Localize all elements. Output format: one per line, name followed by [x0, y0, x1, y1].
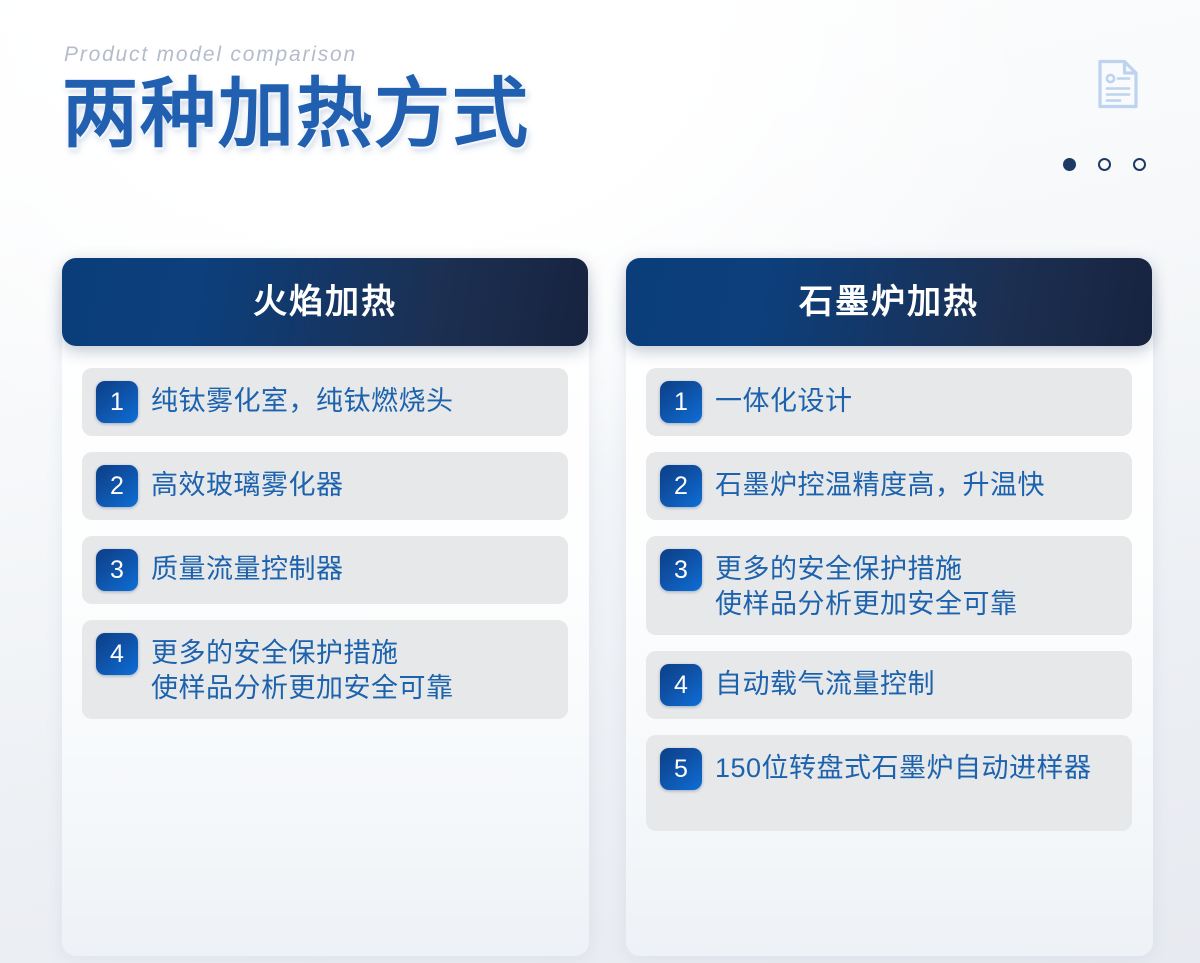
item-number-badge: 3 [96, 549, 138, 591]
list-item[interactable]: 1 纯钛雾化室，纯钛燃烧头 [82, 368, 568, 436]
pagination-dots[interactable] [1063, 158, 1146, 171]
item-number-badge: 5 [660, 748, 702, 790]
list-item[interactable]: 4 更多的安全保护措施 使样品分析更加安全可靠 [82, 620, 568, 719]
item-label: 更多的安全保护措施 使样品分析更加安全可靠 [715, 549, 1018, 622]
list-item[interactable]: 2 高效玻璃雾化器 [82, 452, 568, 520]
card-header-flame: 火焰加热 [62, 258, 588, 346]
page-title: 两种加热方式 [62, 75, 1152, 155]
item-label: 一体化设计 [715, 381, 853, 419]
card-heading-label: 石墨炉加热 [799, 285, 979, 319]
item-label: 高效玻璃雾化器 [151, 465, 344, 503]
item-number-badge: 1 [660, 381, 702, 423]
item-label: 150位转盘式石墨炉自动进样器 [715, 748, 1092, 786]
item-number-badge: 3 [660, 549, 702, 591]
item-label: 自动载气流量控制 [715, 664, 935, 702]
card-heading-label: 火焰加热 [253, 285, 397, 319]
item-label: 石墨炉控温精度高，升温快 [715, 465, 1045, 503]
list-item[interactable]: 2 石墨炉控温精度高，升温快 [646, 452, 1132, 520]
item-label: 质量流量控制器 [151, 549, 344, 587]
document-icon [1096, 58, 1140, 110]
item-number-badge: 1 [96, 381, 138, 423]
comparison-card-flame: 火焰加热 1 纯钛雾化室，纯钛燃烧头 2 高效玻璃雾化器 3 质量流量控制器 [62, 258, 588, 831]
item-number-badge: 4 [96, 633, 138, 675]
item-number-badge: 2 [96, 465, 138, 507]
item-number-badge: 2 [660, 465, 702, 507]
card-header-graphite: 石墨炉加热 [626, 258, 1152, 346]
list-item[interactable]: 5 150位转盘式石墨炉自动进样器 [646, 735, 1132, 831]
item-label: 纯钛雾化室，纯钛燃烧头 [151, 381, 454, 419]
pagination-dot-2[interactable] [1098, 158, 1111, 171]
list-item[interactable]: 4 自动载气流量控制 [646, 651, 1132, 719]
comparison-card-graphite: 石墨炉加热 1 一体化设计 2 石墨炉控温精度高，升温快 3 更多的安全保护措施… [626, 258, 1152, 831]
pagination-dot-3[interactable] [1133, 158, 1146, 171]
comparison-columns: 火焰加热 1 纯钛雾化室，纯钛燃烧头 2 高效玻璃雾化器 3 质量流量控制器 [62, 258, 1152, 831]
corner-cluster [1022, 58, 1152, 188]
pagination-dot-1[interactable] [1063, 158, 1076, 171]
item-number-badge: 4 [660, 664, 702, 706]
item-label: 更多的安全保护措施 使样品分析更加安全可靠 [151, 633, 454, 706]
slide-header: Product model comparison 两种加热方式 [62, 44, 1152, 204]
list-item[interactable]: 1 一体化设计 [646, 368, 1132, 436]
feature-list-graphite: 1 一体化设计 2 石墨炉控温精度高，升温快 3 更多的安全保护措施 使样品分析… [646, 346, 1132, 831]
eyebrow-label: Product model comparison [64, 44, 1152, 65]
slide-root: Product model comparison 两种加热方式 [0, 0, 1200, 963]
list-item[interactable]: 3 更多的安全保护措施 使样品分析更加安全可靠 [646, 536, 1132, 635]
list-item[interactable]: 3 质量流量控制器 [82, 536, 568, 604]
feature-list-flame: 1 纯钛雾化室，纯钛燃烧头 2 高效玻璃雾化器 3 质量流量控制器 4 更多的安… [82, 346, 568, 719]
